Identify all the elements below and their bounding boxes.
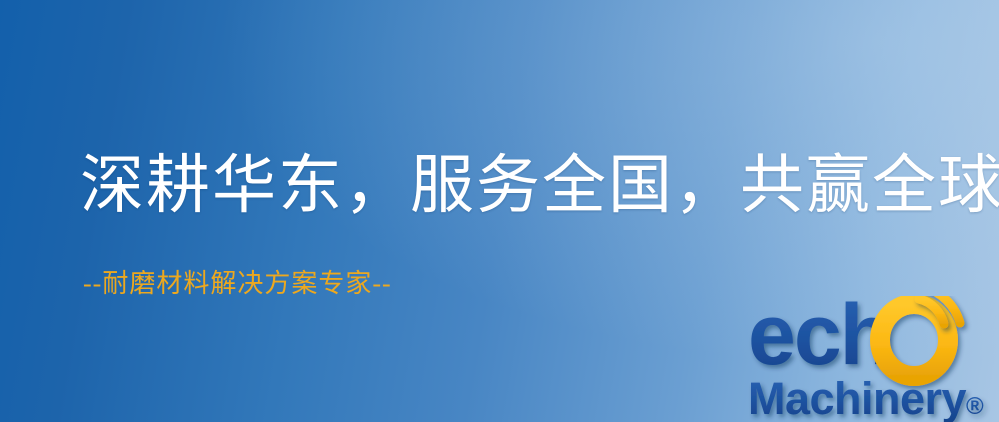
echo-machinery-logo[interactable]: ech Machinery ® xyxy=(748,296,999,422)
logo-subword-machinery: Machinery ® xyxy=(748,373,984,422)
logo-wordmark-ech: ech xyxy=(748,296,890,383)
banner-headline: 深耕华东，服务全国，共赢全球 xyxy=(80,152,999,219)
svg-text:Machinery: Machinery xyxy=(748,373,967,422)
svg-text:ech: ech xyxy=(748,296,890,383)
banner-subtitle: --耐磨材料解决方案专家-- xyxy=(83,263,392,300)
logo-svg: ech Machinery ® xyxy=(748,296,999,422)
hero-banner: 深耕华东，服务全国，共赢全球 --耐磨材料解决方案专家-- xyxy=(0,0,999,422)
logo-registered-mark: ® xyxy=(966,393,984,420)
